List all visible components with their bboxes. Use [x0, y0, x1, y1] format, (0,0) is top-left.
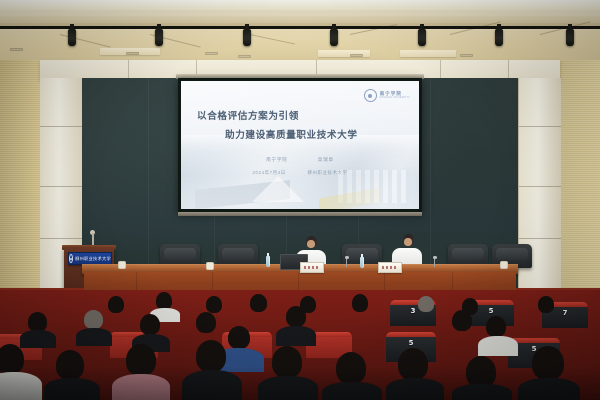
- desk-microphone-icon: [434, 258, 435, 267]
- water-bottle-icon: [360, 257, 364, 268]
- audience-member: [272, 346, 302, 378]
- frame-seam: [128, 60, 129, 80]
- audience-member: [126, 344, 156, 376]
- spotlight-icon: [495, 29, 503, 46]
- spotlight-icon: [330, 29, 338, 46]
- spotlight-icon: [68, 29, 76, 46]
- slide-logo-subtext: NANNING UNIVERSITY: [380, 97, 410, 99]
- university-emblem-icon: [69, 254, 73, 263]
- ceiling-vent-icon: [238, 55, 251, 58]
- audience-member: [418, 296, 434, 312]
- audience-shoulders: [76, 328, 112, 346]
- audience-member: [0, 344, 24, 374]
- audience-member: [84, 310, 103, 329]
- audience-shoulders: [276, 326, 316, 346]
- audience-shoulders: [112, 374, 170, 400]
- tea-cup-icon: [500, 261, 508, 269]
- slide-title-line2: 助力建设高质量职业技术大学: [225, 127, 397, 141]
- spotlight-icon: [566, 29, 574, 46]
- audience-member: [28, 312, 47, 332]
- audience-member: [140, 314, 160, 335]
- desk-microphone-icon: [346, 258, 347, 267]
- audience-shoulders: [20, 330, 56, 348]
- ceiling-vent-icon: [10, 48, 23, 51]
- slide-host-org: 柳州职业技术大学: [308, 170, 348, 175]
- audience-member: [286, 306, 306, 327]
- ceiling-vent-icon: [205, 52, 218, 55]
- audience-member: [56, 350, 84, 380]
- audience-shoulders: [0, 372, 42, 400]
- audience-member: [452, 310, 472, 331]
- spotlight-icon: [418, 29, 426, 46]
- screen-bottom-bar: [178, 212, 422, 216]
- podium-sign-text: 柳州职业技术大学: [75, 256, 111, 262]
- lighting-track-highlight: [0, 29, 600, 30]
- audience-shoulders: [322, 382, 382, 400]
- audience-member: [196, 312, 216, 333]
- audience-member: [538, 296, 554, 313]
- frame-seam: [508, 60, 509, 80]
- audience-shoulders: [452, 384, 512, 400]
- ceiling: [0, 0, 600, 62]
- audience-member: [228, 326, 250, 349]
- slide-title-line1: 以合格评估方案为引领: [197, 108, 397, 122]
- circular-emblem-icon: [364, 89, 377, 102]
- ceiling-vent-icon: [350, 54, 363, 57]
- ceiling-wood-panel: [0, 29, 600, 62]
- tea-cup-icon: [118, 261, 126, 269]
- audience-member: [196, 340, 226, 372]
- projection-screen: 南宁学院 NANNING UNIVERSITY 以合格评估方案为引领 助力建设高…: [178, 78, 422, 212]
- audience-shoulders: [518, 378, 580, 400]
- ceiling-vent-icon: [126, 52, 139, 55]
- audience-member: [532, 346, 564, 380]
- audience-member: [206, 296, 222, 313]
- spotlight-icon: [155, 29, 163, 46]
- slide-logo-text: 南宁学院: [380, 92, 410, 97]
- slide-speaker-org: 南宁学院: [266, 157, 288, 162]
- slide-date: 2024年7月4日: [253, 170, 286, 175]
- nameplate-icon: [378, 262, 402, 273]
- lecture-hall-photo: 南宁学院 NANNING UNIVERSITY 以合格评估方案为引领 助力建设高…: [0, 0, 600, 400]
- audience-member: [250, 294, 267, 312]
- audience-member: [398, 348, 428, 380]
- slide-speaker-name: 高瑞章: [318, 157, 334, 162]
- ceiling-light-band: [0, 0, 600, 10]
- frame-seam: [440, 60, 441, 80]
- slide-title: 以合格评估方案为引领 助力建设高质量职业技术大学: [197, 108, 397, 141]
- audience-shoulders: [44, 378, 100, 400]
- audience-member: [336, 352, 366, 384]
- audience-member: [108, 296, 124, 313]
- seat-number: 5: [386, 339, 436, 347]
- audience-shoulders: [258, 376, 318, 400]
- audience-member: [352, 294, 368, 312]
- spotlight-icon: [243, 29, 251, 46]
- audience-member: [486, 316, 506, 337]
- ceiling-plate: [400, 50, 456, 57]
- slide-subtitle: 南宁学院 高瑞章 2024年7月4日 柳州职业技术大学: [181, 157, 419, 176]
- audience-shoulders: [478, 336, 518, 356]
- ceiling-vent-icon: [460, 54, 473, 57]
- tea-cup-icon: [206, 262, 214, 270]
- nameplate-icon: [300, 262, 324, 273]
- audience-shoulders: [182, 370, 242, 400]
- slide-university-logo: 南宁学院 NANNING UNIVERSITY: [364, 89, 410, 102]
- audience-shoulders: [386, 378, 444, 400]
- ceiling-band-secondary: [0, 16, 600, 23]
- water-bottle-icon: [266, 256, 270, 267]
